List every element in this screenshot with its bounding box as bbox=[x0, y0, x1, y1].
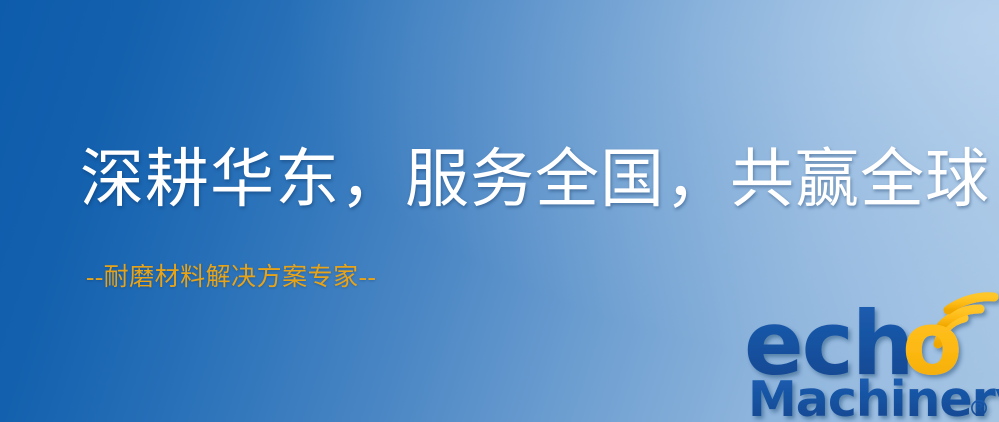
page-subtitle: --耐磨材料解决方案专家-- bbox=[86, 265, 376, 290]
promo-banner: 深耕华东，服务全国，共赢全球 --耐磨材料解决方案专家-- bbox=[0, 0, 999, 422]
brand-logo[interactable]: ech o Machinery ® bbox=[742, 286, 999, 422]
logo-text-machinery: Machinery bbox=[748, 371, 999, 422]
registered-trademark-icon: ® bbox=[968, 397, 990, 422]
page-title: 深耕华东，服务全国，共赢全球 bbox=[80, 148, 990, 212]
